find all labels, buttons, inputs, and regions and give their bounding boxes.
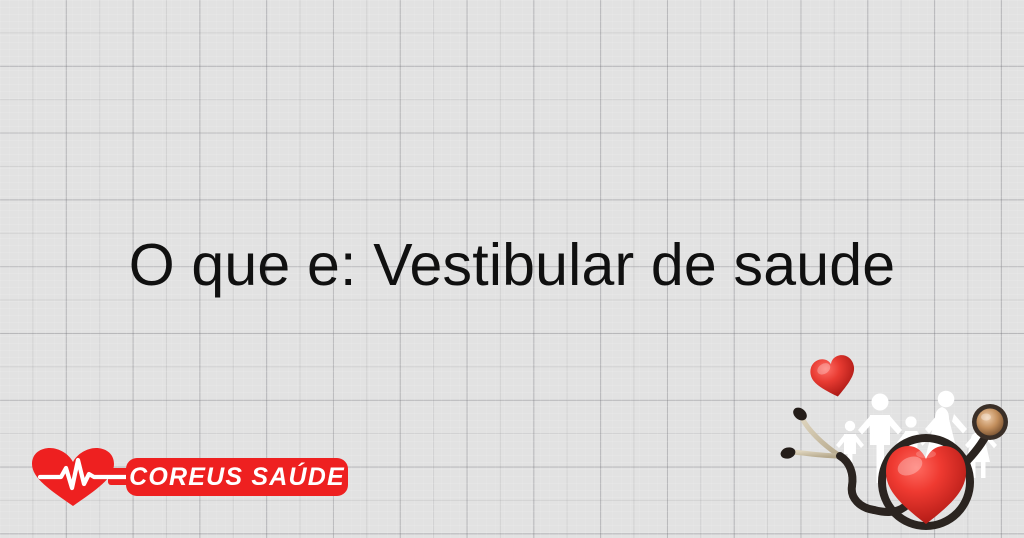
slide-canvas: O que e: Vestibular de saude COREUS SAÚD… — [0, 0, 1024, 538]
stethoscope-ear-tube-upper — [802, 418, 840, 456]
stethoscope-earpiece-top — [791, 405, 810, 423]
stethoscope-fork-bend — [852, 486, 874, 510]
heart-icon — [808, 353, 859, 401]
stethoscope-earpiece-bottom — [779, 446, 796, 461]
family-health-stethoscope-illustration — [778, 352, 1018, 534]
chestpiece-diaphragm — [977, 409, 1004, 436]
small-heart-shape — [808, 353, 859, 401]
page-title: O que e: Vestibular de saude — [0, 232, 1024, 298]
big-heart-top-gloss — [916, 450, 936, 458]
chestpiece-highlight — [981, 414, 991, 421]
brand-name-text: COREUS SAÚDE — [129, 462, 345, 491]
brand-logo[interactable]: COREUS SAÚDE — [28, 446, 350, 508]
heart-ecg-icon — [32, 448, 136, 506]
stethoscope-chestpiece — [972, 404, 1008, 440]
stethoscope-fork-left — [840, 456, 853, 486]
